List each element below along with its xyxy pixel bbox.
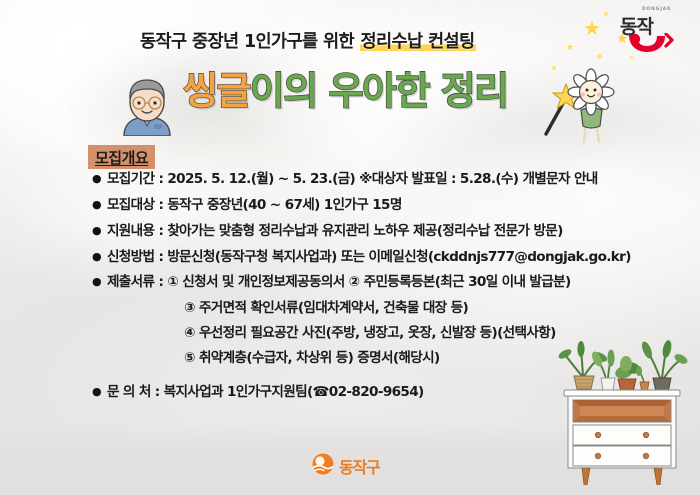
recruitment-period-text: 모집기간 : 2025. 5. 12.(월) ~ 5. 23.(금) ※대상자 … — [107, 172, 598, 186]
potted-plant-small — [636, 366, 649, 390]
dongjak-footer-logo-text: 동작구 — [339, 454, 380, 478]
star-decoration-2: ★ — [616, 32, 629, 46]
recruitment-target-text: 모집대상 : 동작구 중장년(40 ~ 67세) 1인가구 15명 — [107, 198, 402, 212]
bullet-icon: ● — [92, 172, 101, 185]
dongjak-footer-logo: 동작구 — [312, 452, 396, 478]
sparkle-dot-2 — [597, 54, 602, 59]
required-document-3-text: ③ 주거면적 확인서류(임대차계약서, 건축물 대장 등) — [184, 301, 468, 315]
subtitle-plain-text: 동작구 중장년 1인가구를 위한 — [140, 32, 360, 52]
list-item: ● 신청방법 : 방문신청(동작구청 복지사업과) 또는 이메일신청(ckddn… — [92, 250, 652, 264]
daisy-fairy-with-magic-wand-icon — [536, 62, 622, 148]
subtitle-highlighted-text: 정리수납 컨설팅 — [360, 32, 476, 52]
title-segment-green-1: 이 — [250, 69, 283, 113]
bullet-icon: ● — [92, 224, 101, 237]
dongjak-smile-icon — [626, 33, 674, 53]
poster-subtitle: 동작구 중장년 1인가구를 위한 정리수납 컨설팅 — [140, 28, 476, 53]
title-segment-green-2: 의 우아한 정리 — [283, 69, 507, 113]
application-method-text: 신청방법 : 방문신청(동작구청 복지사업과) 또는 이메일신청(ckddnjs… — [107, 250, 631, 264]
dongjak-sun-wave-icon — [312, 453, 334, 475]
contact-info-text: 문 의 처 : 복지사업과 1인가구지원팀(☎02-820-9654) — [107, 385, 424, 399]
required-documents-text: 제출서류 : ① 신청서 및 개인정보제공동의서 ② 주민등록등본(최근 30일… — [107, 275, 571, 289]
list-item: ● 지원내용 : 찾아가는 맞춤형 정리수납과 유지관리 노하우 제공(정리수납… — [92, 224, 652, 238]
section-label-recruitment-overview: 모집개요 — [88, 145, 155, 169]
bullet-icon: ● — [92, 385, 101, 398]
bullet-icon: ● — [92, 250, 101, 263]
sparkle-dot-4 — [630, 56, 633, 59]
wooden-chest-of-drawers-with-plants-illustration — [556, 340, 688, 485]
poster-main-title: 씽글이의 우아한 정리 — [183, 72, 508, 110]
list-item: ● 모집대상 : 동작구 중장년(40 ~ 67세) 1인가구 15명 — [92, 198, 652, 212]
list-item: ④ 우선정리 필요공간 사진(주방, 냉장고, 옷장, 신발장 등)(선택사항) — [92, 326, 652, 340]
list-item: ● 모집기간 : 2025. 5. 12.(월) ~ 5. 23.(금) ※대상… — [92, 172, 652, 186]
star-decoration-1: ★ — [583, 18, 601, 38]
star-decoration-3: ★ — [566, 44, 574, 53]
poster-canvas: DONGJAK 동작 동작구 중장년 1인가구를 위한 정리수납 컨설팅 ★ ★… — [0, 0, 700, 495]
bullet-icon: ● — [92, 198, 101, 211]
required-document-5-text: ⑤ 취약계층(수급자, 차상위 등) 증명서(해당시) — [184, 351, 440, 365]
sparkle-dot-1 — [604, 12, 608, 16]
middle-aged-man-character-icon — [116, 74, 178, 136]
required-document-4-text: ④ 우선정리 필요공간 사진(주방, 냉장고, 옷장, 신발장 등)(선택사항) — [184, 326, 556, 340]
title-segment-orange-1: 씽글 — [183, 69, 250, 113]
bullet-icon: ● — [92, 275, 101, 288]
list-item: ③ 주거면적 확인서류(임대차계약서, 건축물 대장 등) — [92, 301, 652, 315]
support-content-text: 지원내용 : 찾아가는 맞춤형 정리수납과 유지관리 노하우 제공(정리수납 전… — [107, 224, 563, 238]
list-item: ● 제출서류 : ① 신청서 및 개인정보제공동의서 ② 주민등록등본(최근 3… — [92, 275, 652, 289]
